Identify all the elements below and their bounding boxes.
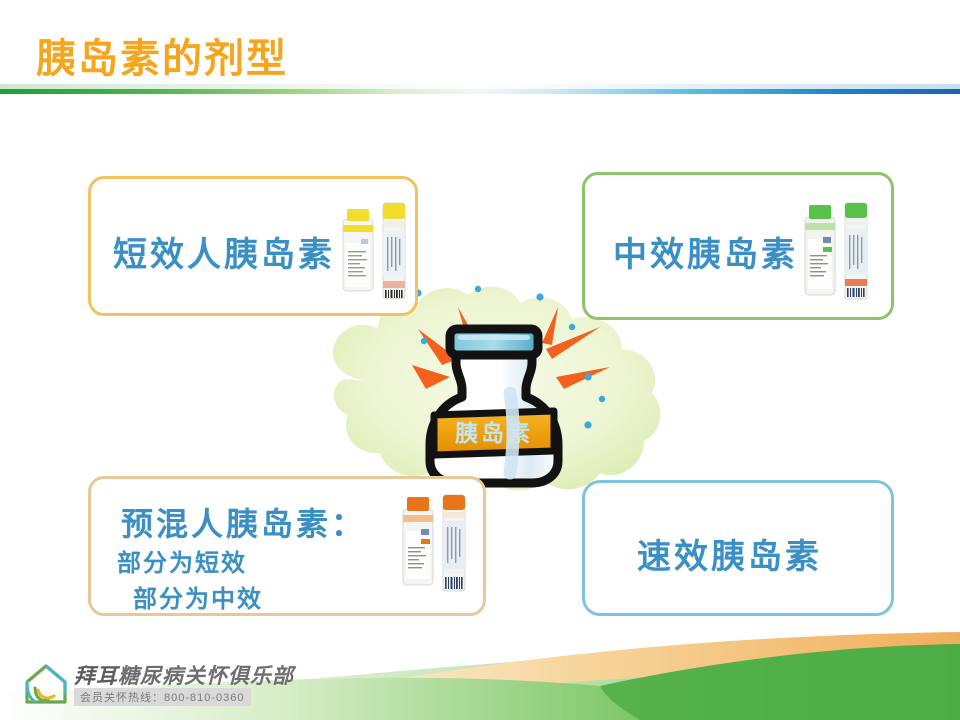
- card-sub-line-1: 部分为短效: [117, 543, 247, 578]
- slide-footer: 拜耳糖尿病关怀俱乐部 会员关怀热线：800-810-0360: [0, 610, 960, 720]
- brand-club-b: 俱乐部: [228, 665, 294, 688]
- card-label-intermediate-acting: 中效胰岛素: [613, 227, 798, 276]
- bottle-label-text: 胰岛素: [454, 420, 533, 446]
- card-label-short-acting: 短效人胰岛素: [113, 227, 335, 276]
- brand-name: 拜耳: [74, 665, 118, 688]
- card-rapid-acting[interactable]: 速效胰岛素: [582, 480, 894, 616]
- insulin-bottle: 胰岛素: [430, 329, 558, 483]
- card-sub-line-2: 部分为中效: [133, 579, 263, 614]
- hotline-text: 会员关怀热线：800-810-0360: [74, 688, 251, 706]
- product-photo-intermediate-acting: [799, 193, 877, 305]
- page-title: 胰岛素的剂型: [36, 26, 288, 84]
- card-label-rapid-acting: 速效胰岛素: [637, 529, 822, 578]
- card-premixed[interactable]: 预混人胰岛素： 部分为短效 部分为中效: [88, 476, 486, 616]
- header-divider: [0, 89, 960, 94]
- card-short-acting[interactable]: 短效人胰岛素: [88, 176, 418, 316]
- product-photo-premixed: [397, 487, 475, 597]
- product-photo-short-acting: [337, 195, 415, 303]
- brand-logo: 拜耳糖尿病关怀俱乐部 会员关怀热线：800-810-0360: [22, 658, 262, 712]
- card-intermediate-acting[interactable]: 中效胰岛素: [582, 172, 894, 320]
- slide-canvas: 胰岛素的剂型: [0, 0, 960, 720]
- brand-club-a: 糖尿病关怀: [118, 665, 228, 688]
- card-label-premixed: 预混人胰岛素：: [121, 499, 366, 545]
- house-leaf-icon: [22, 660, 70, 706]
- slide-header: 胰岛素的剂型: [0, 0, 960, 96]
- brand-logo-text: 拜耳糖尿病关怀俱乐部: [74, 660, 294, 690]
